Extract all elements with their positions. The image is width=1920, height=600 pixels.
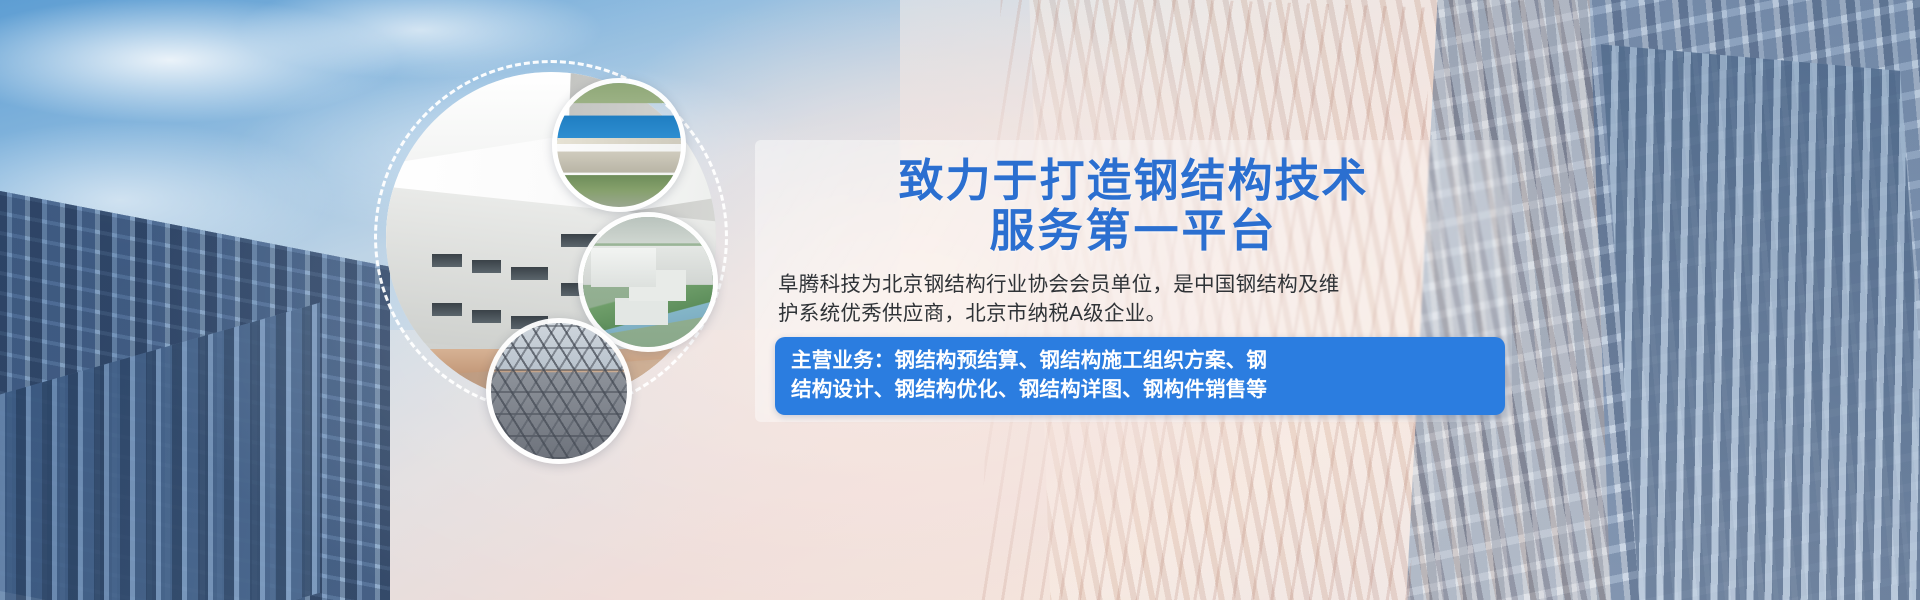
business-line-2: 结构设计、钢结构优化、钢结构详图、钢构件销售等 <box>791 375 1489 404</box>
banner-paragraph: 阜腾科技为北京钢结构行业协会会员单位，是中国钢结构及维 护系统优秀供应商，北京市… <box>778 270 1498 328</box>
mini-circle-photo-1 <box>552 78 686 212</box>
banner-headline: 致力于打造钢结构技术 服务第一平台 <box>755 156 1512 256</box>
business-scope-box: 主营业务：钢结构预结算、钢结构施工组织方案、钢 结构设计、钢结构优化、钢结构详图… <box>775 337 1505 415</box>
headline-line-2: 服务第一平台 <box>755 206 1512 256</box>
paragraph-line-1: 阜腾科技为北京钢结构行业协会会员单位，是中国钢结构及维 <box>778 270 1498 299</box>
paragraph-line-2: 护系统优秀供应商，北京市纳税A级企业。 <box>778 299 1498 328</box>
business-line-1: 主营业务：钢结构预结算、钢结构施工组织方案、钢 <box>791 346 1489 375</box>
aerial-factory-photo <box>557 83 681 207</box>
headline-line-1: 致力于打造钢结构技术 <box>755 156 1512 206</box>
steel-truss-photo <box>491 323 627 459</box>
mini-circle-photo-3 <box>486 318 632 464</box>
hero-banner: 致力于打造钢结构技术 服务第一平台 阜腾科技为北京钢结构行业协会会员单位，是中国… <box>0 0 1920 600</box>
